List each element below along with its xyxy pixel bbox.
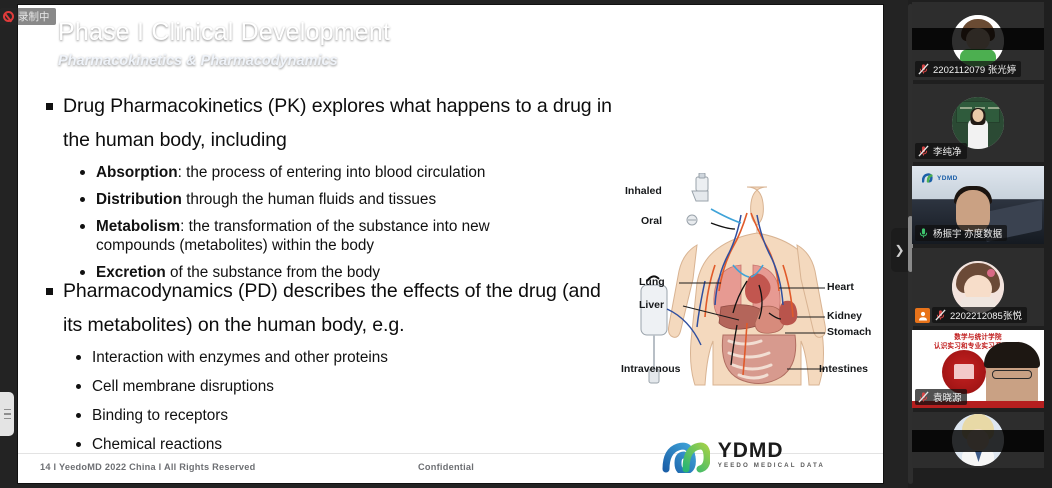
ydmd-overlay-logo: YDMD: [922, 173, 958, 183]
list-item-term: Absorption: [96, 164, 178, 181]
list-item-rest: Binding to receptors: [92, 406, 228, 425]
bullet-level1: Pharmacodynamics (PD) describes the effe…: [46, 274, 666, 342]
ydmd-tagline: YEEDO MEDICAL DATA: [718, 463, 825, 469]
label-intravenous: Intravenous: [621, 363, 681, 375]
list-item: Metabolism: the transformation of the su…: [80, 217, 646, 255]
participant-tile[interactable]: 李纯净: [912, 84, 1044, 162]
participant-name-badge: 杨振宇 亦度数据: [915, 225, 1007, 241]
recording-label: 录制中: [18, 9, 50, 24]
square-bullet-icon: [46, 103, 53, 110]
list-item-rest: : the transformation of the substance in…: [180, 218, 490, 235]
chevron-right-icon: ❯: [894, 244, 904, 256]
participant-name-badge: 李纯净: [915, 143, 967, 159]
mic-muted-icon: [918, 63, 929, 75]
label-kidney: Kidney: [827, 310, 862, 322]
cartoon-girl-avatar: [952, 261, 1004, 313]
list-item: Interaction with enzymes and other prote…: [76, 348, 666, 367]
seal-building: [954, 364, 974, 379]
zoom-meeting-window: Phase I Clinical Development Pharmacokin…: [0, 0, 1052, 488]
list-item-rest: Chemical reactions: [92, 435, 222, 454]
participant-name-badge: 2202112079 张光婷: [915, 61, 1021, 77]
mic-muted-icon: [918, 391, 929, 403]
handle-line: [4, 418, 11, 420]
list-item-rest: : the process of entering into blood cir…: [178, 164, 486, 181]
slide-block-pd: Pharmacodynamics (PD) describes the effe…: [46, 274, 666, 464]
label-lung: Lung: [639, 276, 665, 288]
participant-name-badge: 袁晓源: [915, 389, 967, 405]
slide-body: Drug Pharmacokinetics (PK) explores what…: [18, 77, 883, 483]
host-badge: [915, 308, 930, 323]
participant-name-badge: 2202212085张悦: [932, 307, 1027, 323]
panel-collapse-button[interactable]: ❯: [891, 228, 908, 272]
participant-tile[interactable]: YDMD 杨振宇 亦度数据: [912, 166, 1044, 244]
pk-sub-list: Absorption: the process of entering into…: [80, 163, 646, 282]
ydmd-logo-mark: [662, 437, 710, 473]
dot-bullet-icon: [76, 355, 81, 360]
list-item-rest: through the human fluids and tissues: [182, 191, 436, 208]
bullet-level1-text: Pharmacodynamics (PD) describes the effe…: [63, 274, 623, 342]
footer-confidential: Confidential: [418, 462, 474, 472]
bullet-level1: Drug Pharmacokinetics (PK) explores what…: [46, 89, 646, 157]
label-heart: Heart: [827, 281, 854, 293]
list-item-term: Distribution: [96, 191, 182, 208]
list-item: Cell membrane disruptions: [76, 377, 666, 396]
human-body-drug-administration-diagram: Inhaled Oral Lung Liver Intravenous Hear…: [619, 173, 881, 391]
slide-block-pk: Drug Pharmacokinetics (PK) explores what…: [46, 89, 646, 290]
participant-name: 袁晓源: [933, 390, 962, 404]
handle-line: [4, 413, 11, 415]
dot-bullet-icon: [76, 442, 81, 447]
square-bullet-icon: [46, 288, 53, 295]
classroom-photo-avatar: [952, 97, 1004, 149]
chalk-line: [960, 107, 972, 109]
slide-subtitle: Pharmacokinetics & Pharmacodynamics: [58, 53, 338, 69]
glasses-icon: [992, 370, 1032, 379]
dot-bullet-icon: [80, 224, 85, 229]
list-item-rest: Interaction with enzymes and other prote…: [92, 348, 388, 367]
handle-line: [4, 409, 11, 411]
mic-unmuted-icon: [918, 227, 929, 239]
dot-bullet-icon: [80, 197, 85, 202]
label-inhaled: Inhaled: [625, 185, 662, 197]
ydmd-logo-mark: [922, 173, 934, 183]
bullet-level1-text: Drug Pharmacokinetics (PK) explores what…: [63, 89, 623, 157]
participant-tile[interactable]: 2202212085张悦: [912, 248, 1044, 326]
recording-stop-icon[interactable]: [3, 11, 14, 22]
participant-name: 杨振宇 亦度数据: [933, 226, 1002, 240]
footer-copyright: 14 l YeedoMD 2022 China l All Rights Res…: [40, 462, 256, 472]
avatar-flower: [987, 269, 995, 277]
shared-screen-stage: Phase I Clinical Development Pharmacokin…: [0, 0, 908, 488]
chalk-line: [988, 107, 1002, 109]
list-item: Chemical reactions: [76, 435, 666, 454]
recording-indicator[interactable]: 录制中: [0, 8, 56, 25]
dot-bullet-icon: [76, 384, 81, 389]
list-item: Distribution through the human fluids an…: [80, 190, 646, 209]
participant-video-panel: 2202112079 张光婷: [908, 0, 1052, 488]
mic-muted-icon: [918, 145, 929, 157]
list-item: Absorption: the process of entering into…: [80, 163, 646, 182]
avatar-overlay-strip: [912, 430, 1044, 452]
overlay-logo-text: YDMD: [937, 175, 958, 182]
participant-name: 2202212085张悦: [950, 308, 1022, 322]
ydmd-wordmark-text: YDMD: [718, 440, 825, 461]
participant-tile[interactable]: 2202112079 张光婷: [912, 2, 1044, 80]
label-stomach: Stomach: [827, 326, 871, 338]
slide-header-band: Phase I Clinical Development Pharmacokin…: [18, 5, 883, 77]
participant-tile[interactable]: [912, 412, 1044, 468]
university-seal: [942, 350, 986, 394]
list-item-continuation: compounds (metabolites) within the body: [96, 236, 490, 255]
label-oral: Oral: [641, 215, 662, 227]
dot-bullet-icon: [76, 413, 81, 418]
participant-name: 2202112079 张光婷: [933, 62, 1016, 76]
banner-line-1: 数学与统计学院: [912, 333, 1044, 342]
avatar: [952, 97, 1004, 149]
ydmd-wordmark: YDMD YEEDO MEDICAL DATA: [718, 440, 825, 469]
list-item: Binding to receptors: [76, 406, 666, 425]
ydmd-logo: YDMD YEEDO MEDICAL DATA: [662, 437, 825, 473]
label-liver: Liver: [639, 299, 664, 311]
pd-sub-list: Interaction with enzymes and other prote…: [76, 348, 666, 454]
presentation-slide: Phase I Clinical Development Pharmacokin…: [18, 5, 883, 483]
participant-tile[interactable]: 数学与统计学院 认识实习和专业实习系列报告 袁晓源: [912, 330, 1044, 408]
avatar-overlay-strip: [912, 28, 1044, 50]
avatar: [952, 261, 1004, 313]
drag-handle[interactable]: [0, 392, 14, 436]
mic-muted-icon: [935, 309, 946, 321]
participant-name: 李纯净: [933, 144, 962, 158]
slide-title: Phase I Clinical Development: [58, 18, 390, 47]
label-intestines: Intestines: [819, 363, 868, 375]
person-icon: [918, 311, 928, 321]
avatar-face: [973, 109, 984, 122]
list-item-rest: Cell membrane disruptions: [92, 377, 274, 396]
list-item-term: Metabolism: [96, 218, 180, 235]
speaker-figure: [986, 346, 1038, 408]
dot-bullet-icon: [80, 170, 85, 175]
